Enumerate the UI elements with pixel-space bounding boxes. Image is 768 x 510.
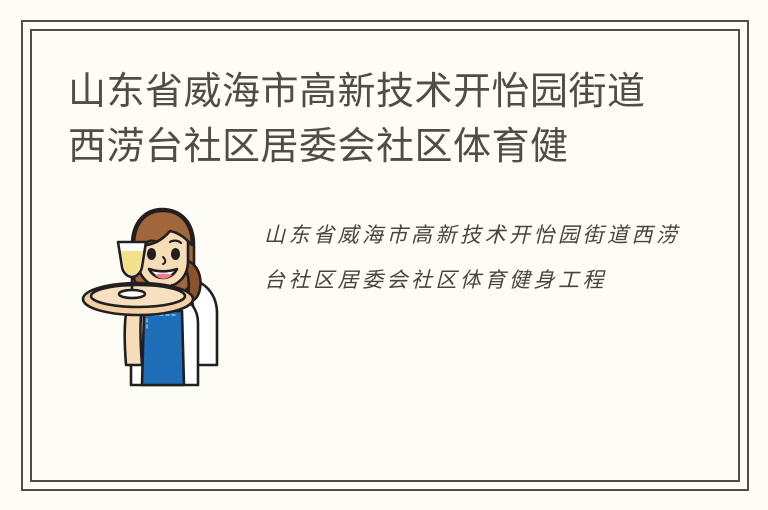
page-root: 山东省威海市高新技术开怡园街道西涝台社区居委会社区体育健 <box>0 0 768 510</box>
inner-border-frame: 山东省威海市高新技术开怡园街道西涝台社区居委会社区体育健 <box>30 29 740 482</box>
waitress-with-tray-icon <box>76 199 236 395</box>
outer-border-frame: 山东省威海市高新技术开怡园街道西涝台社区居委会社区体育健 <box>21 20 749 491</box>
body-paragraph: 山东省威海市高新技术开怡园街道西涝台社区居委会社区体育健身工程 <box>264 213 694 303</box>
content-container: 山东省威海市高新技术开怡园街道西涝台社区居委会社区体育健 <box>32 31 738 480</box>
body-area: 山东省威海市高新技术开怡园街道西涝台社区居委会社区体育健身工程 <box>50 203 720 395</box>
page-title: 山东省威海市高新技术开怡园街道西涝台社区居委会社区体育健 <box>68 65 678 175</box>
